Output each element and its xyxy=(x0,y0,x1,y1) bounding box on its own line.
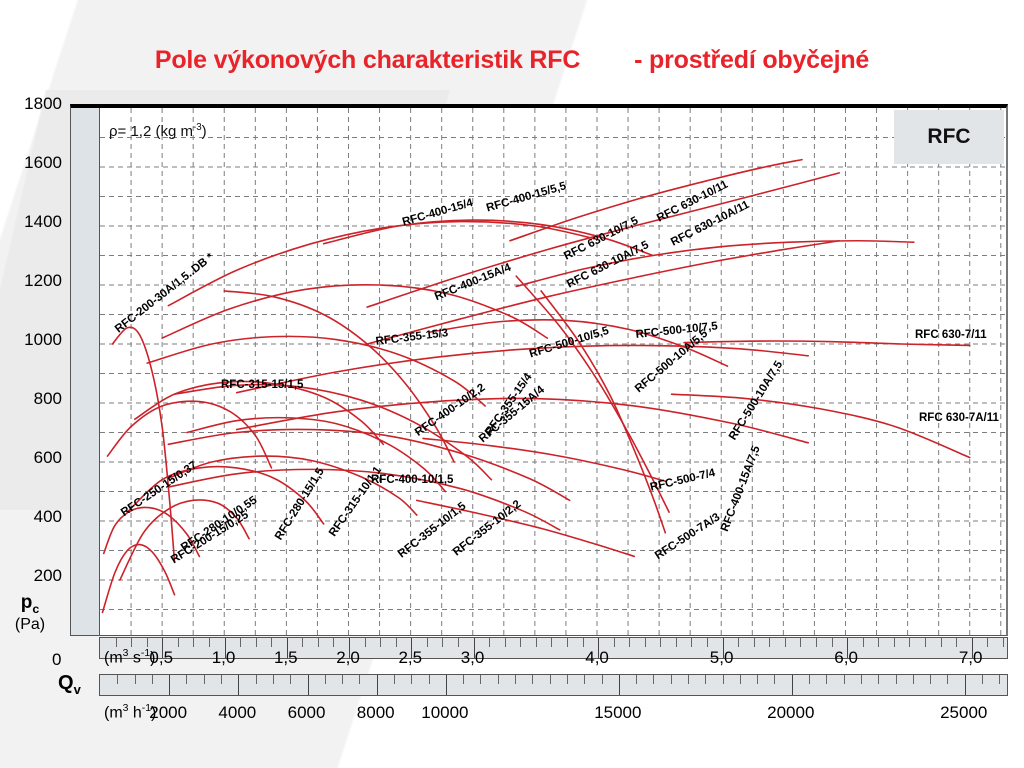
x-axis-tick xyxy=(583,638,584,647)
x-axis-tick xyxy=(380,638,381,647)
x-axis-tick xyxy=(333,638,334,647)
x-axis-tick xyxy=(740,675,741,684)
x-axis-tick xyxy=(567,638,568,647)
x-axis-tick xyxy=(965,675,966,695)
x-axis-tick xyxy=(209,638,210,647)
x-axis-tick xyxy=(800,638,801,647)
x-axis-tick xyxy=(567,675,568,684)
x-axis-tick xyxy=(256,638,257,647)
x-axis-tick xyxy=(629,638,630,647)
x-axis-tick xyxy=(204,675,205,684)
x-axis-tick xyxy=(1003,638,1004,647)
chart-curve xyxy=(112,327,174,562)
x-axis-tick xyxy=(463,675,464,684)
x-axis-tick xyxy=(446,675,447,695)
x-axis-tick xyxy=(705,675,706,684)
x-axis-tick xyxy=(809,675,810,684)
x-axis-tick xyxy=(238,675,239,695)
x-axis-tick xyxy=(863,638,864,647)
chart-curve xyxy=(168,429,569,500)
x-axis-tick xyxy=(427,638,428,647)
x-axis-tick xyxy=(377,675,378,695)
y-axis-zero-label: 0 xyxy=(52,650,61,670)
x-axis-title-hourly: Qv xyxy=(58,672,81,697)
chart-curve xyxy=(168,222,597,306)
x-axis-tick xyxy=(844,675,845,684)
x-axis-tick xyxy=(792,675,793,695)
x-axis-tick xyxy=(645,638,646,647)
page-title: Pole výkonových charakteristik RFC - pro… xyxy=(0,46,1024,75)
x-axis-tick xyxy=(394,675,395,684)
x-axis-tick xyxy=(941,638,942,647)
x-axis-tick xyxy=(861,675,862,684)
x-axis-tick xyxy=(116,638,117,647)
x-axis-tick-label: 15000 xyxy=(573,703,663,723)
x-axis-tick-label: 25000 xyxy=(919,703,1009,723)
chart-gridlines xyxy=(100,108,1007,639)
x-axis-tick xyxy=(999,675,1000,684)
x-axis-tick xyxy=(271,638,272,647)
x-axis-tick xyxy=(738,638,739,647)
x-axis-tick xyxy=(671,675,672,684)
x-axis-tick xyxy=(660,638,661,647)
x-axis-tick xyxy=(707,638,708,647)
chart-curve xyxy=(187,418,445,492)
x-axis-tick xyxy=(505,638,506,647)
x-axis-tick xyxy=(458,638,459,647)
x-axis-tick xyxy=(826,675,827,684)
x-axis-tick xyxy=(816,638,817,647)
chart-curve xyxy=(135,381,383,444)
chart-curve xyxy=(324,220,653,255)
x-axis-tick xyxy=(878,675,879,684)
x-axis-tick xyxy=(551,638,552,647)
x-axis-tick xyxy=(318,638,319,647)
x-axis-tick xyxy=(131,638,132,647)
x-axis-tick xyxy=(896,675,897,684)
x-axis-tick xyxy=(676,638,677,647)
y-axis-gutter xyxy=(71,108,100,635)
x-axis-tick xyxy=(913,675,914,684)
x-axis-tick xyxy=(411,675,412,684)
y-axis-tick-label: 1200 xyxy=(4,271,62,291)
y-axis-tick-label: 1800 xyxy=(4,94,62,114)
y-axis-tick-label: 400 xyxy=(4,507,62,527)
x-axis-tick-label: 6,0 xyxy=(801,648,891,668)
x-axis-tick-label: 5,0 xyxy=(677,648,767,668)
x-axis-tick xyxy=(602,675,603,684)
x-axis-tick-label: 4,0 xyxy=(552,648,642,668)
x-axis-tick xyxy=(536,638,537,647)
x-axis-tick-label: 10000 xyxy=(400,703,490,723)
chart-curve xyxy=(516,276,669,512)
x-axis-tick xyxy=(365,638,366,647)
y-axis-tick-label: 600 xyxy=(4,448,62,468)
x-axis-tick-label: 20000 xyxy=(746,703,836,723)
x-axis-tick xyxy=(691,638,692,647)
chart-curve xyxy=(237,345,809,392)
x-axis-tick xyxy=(273,675,274,684)
x-axis-tick xyxy=(240,638,241,647)
x-axis-tick xyxy=(147,638,148,647)
x-axis-tick xyxy=(325,675,326,684)
y-axis-unit: (Pa) xyxy=(0,616,60,634)
x-axis-tick-label: 3,0 xyxy=(428,648,518,668)
x-axis-tick xyxy=(584,675,585,684)
x-axis-tick xyxy=(925,638,926,647)
chart-series-group xyxy=(102,160,969,613)
y-axis-tick-label: 200 xyxy=(4,566,62,586)
x-axis-tick xyxy=(359,675,360,684)
x-axis-tick xyxy=(832,638,833,647)
x-axis-tick xyxy=(221,675,222,684)
x-axis-tick xyxy=(186,675,187,684)
x-axis-tick xyxy=(520,638,521,647)
x-axis-tick xyxy=(515,675,516,684)
x-axis-tick xyxy=(769,638,770,647)
density-annotation: ρ= 1,2 (kg m-3) xyxy=(109,122,207,140)
x-axis-tick xyxy=(342,675,343,684)
chart-curve xyxy=(423,438,665,481)
x-axis-tick xyxy=(878,638,879,647)
x-axis-tick xyxy=(135,675,136,684)
y-axis-tick-label: 1600 xyxy=(4,153,62,173)
x-axis-tick xyxy=(193,638,194,647)
chart-plot-area: ρ= 1,2 (kg m-3) RFC RFC-200-15/0,25RFC-2… xyxy=(70,104,1008,636)
x-axis-tick xyxy=(619,675,620,695)
x-axis-tick xyxy=(290,675,291,684)
x-axis-tick xyxy=(982,675,983,684)
x-axis-tick xyxy=(987,638,988,647)
x-axis-tick xyxy=(442,638,443,647)
x-axis-bar-hourly xyxy=(99,674,1008,696)
chart-curve xyxy=(224,291,454,462)
y-axis-tick-label: 1000 xyxy=(4,330,62,350)
chart-curve xyxy=(120,500,249,580)
x-axis-tick xyxy=(396,638,397,647)
x-axis-tick-label: 7,0 xyxy=(926,648,1016,668)
y-axis-tick-label: 1400 xyxy=(4,212,62,232)
x-axis-tick xyxy=(117,675,118,684)
y-axis-title: pc xyxy=(0,592,60,616)
x-axis-tick xyxy=(256,675,257,684)
x-axis-tick xyxy=(489,638,490,647)
x-axis-tick xyxy=(614,638,615,647)
x-axis-tick xyxy=(688,675,689,684)
x-axis-tick xyxy=(785,638,786,647)
x-axis-tick xyxy=(774,675,775,684)
x-axis-tick xyxy=(636,675,637,684)
x-axis-tick xyxy=(308,675,309,695)
x-axis-tick xyxy=(532,675,533,684)
chart-curve xyxy=(672,394,970,457)
chart-curve xyxy=(684,341,970,345)
x-axis-tick xyxy=(956,638,957,647)
x-axis-tick xyxy=(302,638,303,647)
chart-canvas xyxy=(71,108,1009,640)
x-axis-tick xyxy=(757,675,758,684)
chart-curve xyxy=(367,173,839,307)
x-axis-tick xyxy=(152,675,153,684)
chart-curve xyxy=(417,500,634,556)
x-axis-tick xyxy=(930,675,931,684)
chart-curve xyxy=(102,545,174,613)
x-axis-tick xyxy=(909,638,910,647)
y-axis-tick-label: 800 xyxy=(4,389,62,409)
chart-curve xyxy=(516,241,914,287)
chart-curve xyxy=(104,507,200,556)
x-axis-tick xyxy=(723,675,724,684)
status-badge: RFC xyxy=(894,110,1004,164)
x-axis-tick xyxy=(653,675,654,684)
x-axis-tick xyxy=(178,638,179,647)
x-axis-tick xyxy=(480,675,481,684)
x-axis-tick xyxy=(550,675,551,684)
x-axis-tick xyxy=(169,675,170,695)
x-axis-tick xyxy=(429,675,430,684)
chart-curve xyxy=(107,401,271,468)
x-axis-tick xyxy=(498,675,499,684)
x-axis-tick xyxy=(947,675,948,684)
chart-curve xyxy=(429,320,727,366)
x-axis-tick xyxy=(754,638,755,647)
x-axis-tick xyxy=(894,638,895,647)
chart-curve xyxy=(147,336,485,406)
